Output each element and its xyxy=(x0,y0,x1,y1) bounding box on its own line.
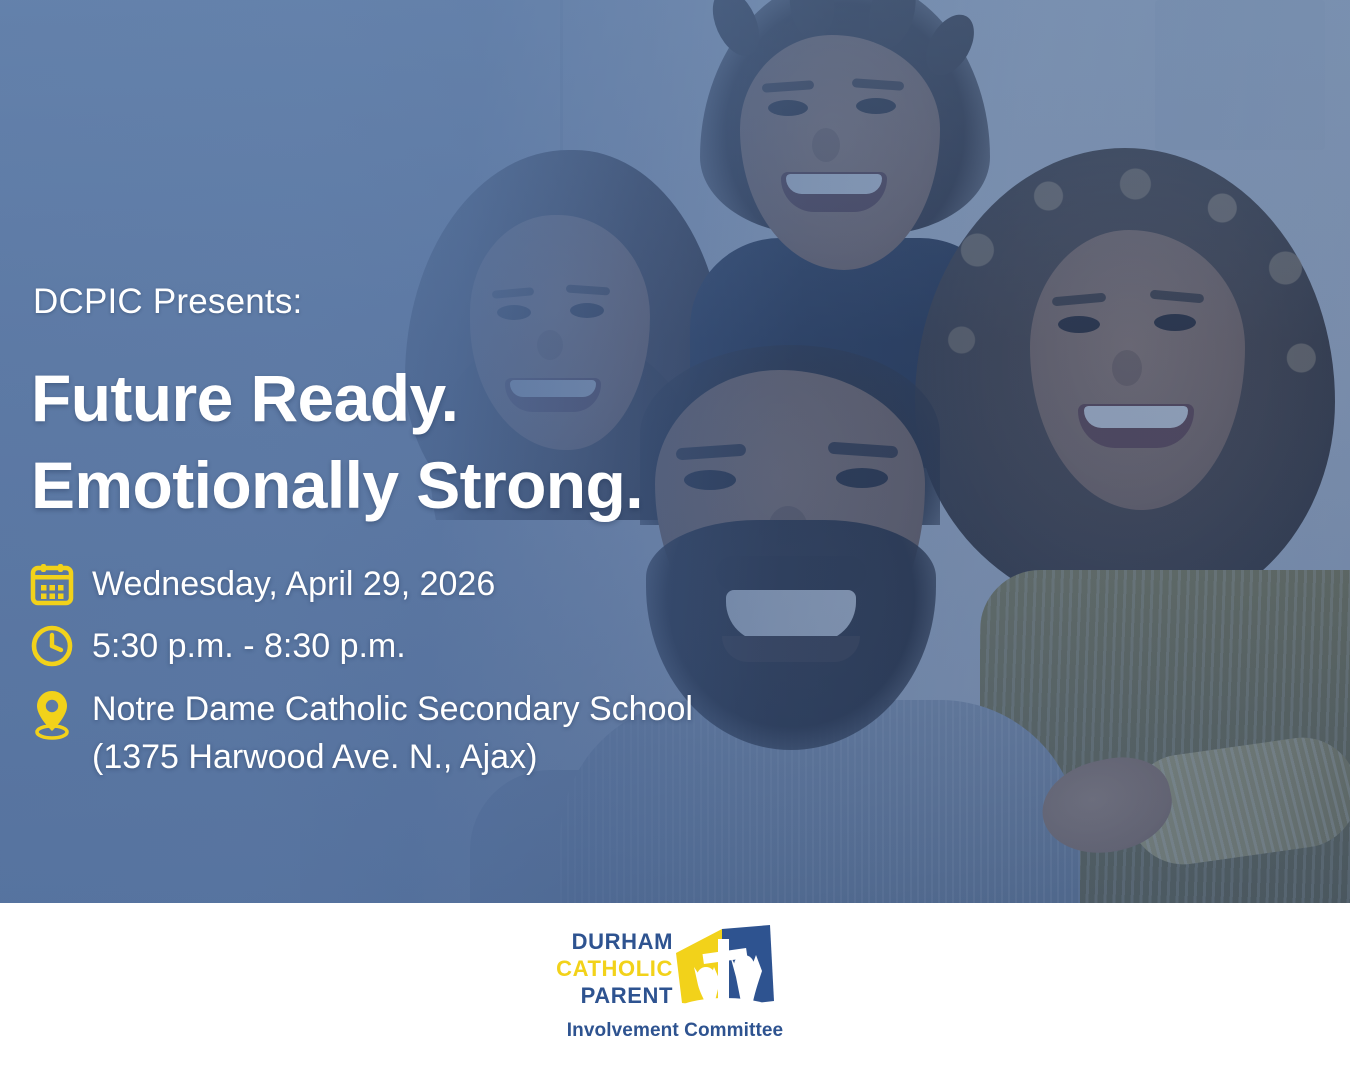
event-time-text: 5:30 p.m. - 8:30 p.m. xyxy=(92,622,406,670)
logo-subtitle: Involvement Committee xyxy=(525,1020,825,1042)
event-flyer: DCPIC Presents: Future Ready. Emotionall… xyxy=(0,0,1350,1080)
calendar-icon xyxy=(30,560,92,606)
page-title: Future Ready. Emotionally Strong. xyxy=(31,355,751,529)
headline-line-2: Emotionally Strong. xyxy=(31,442,751,529)
presenter-kicker: DCPIC Presents: xyxy=(33,282,302,322)
footer: DURHAM CATHOLIC PARENT Involvement Com xyxy=(0,903,1350,1080)
event-location-line-2: (1375 Harwood Ave. N., Ajax) xyxy=(92,733,693,781)
event-date-text: Wednesday, April 29, 2026 xyxy=(92,560,495,608)
flyer-content: DCPIC Presents: Future Ready. Emotionall… xyxy=(0,0,1350,903)
event-details: Wednesday, April 29, 2026 5:30 p.m. - 8:… xyxy=(30,560,850,795)
location-pin-icon xyxy=(30,685,92,741)
event-location-row: Notre Dame Catholic Secondary School (13… xyxy=(30,685,850,782)
event-location-line-1: Notre Dame Catholic Secondary School xyxy=(92,685,693,733)
clock-icon xyxy=(30,622,92,668)
logo-word-parent: PARENT xyxy=(533,983,673,1010)
event-date-row: Wednesday, April 29, 2026 xyxy=(30,560,850,608)
logo-wordmark: DURHAM CATHOLIC PARENT xyxy=(533,929,673,1009)
event-location-text: Notre Dame Catholic Secondary School (13… xyxy=(92,685,693,782)
house-cross-figures-icon xyxy=(670,923,780,1019)
dcpic-logo: DURHAM CATHOLIC PARENT Involvement Com xyxy=(525,923,825,1053)
event-time-row: 5:30 p.m. - 8:30 p.m. xyxy=(30,622,850,670)
logo-word-durham: DURHAM xyxy=(533,929,673,956)
logo-word-catholic: CATHOLIC xyxy=(533,956,673,983)
headline-line-1: Future Ready. xyxy=(31,355,751,442)
